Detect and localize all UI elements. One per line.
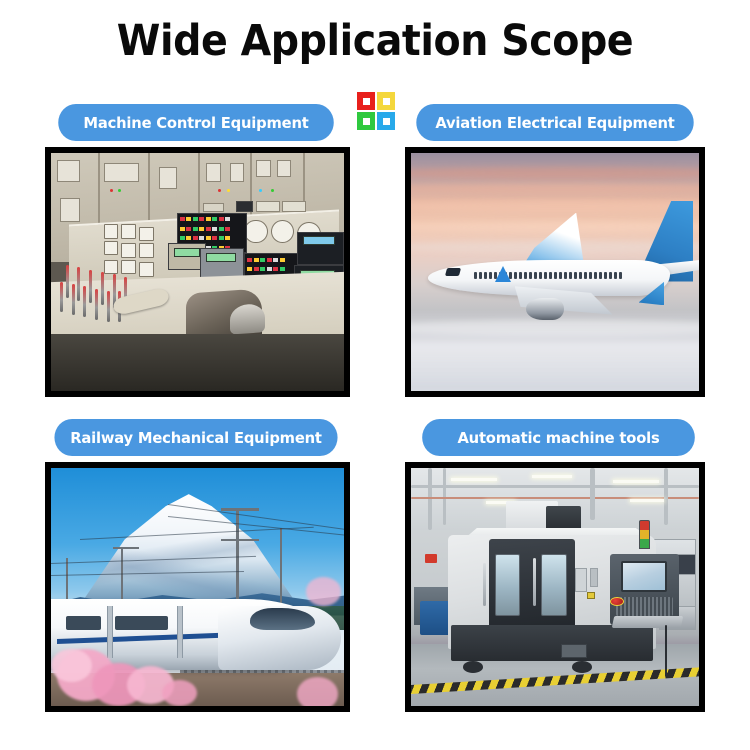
cnc-machine-base bbox=[451, 625, 653, 661]
card-label-railway-mechanical[interactable]: Railway Mechanical Equipment bbox=[54, 419, 337, 456]
photo-machine-control-room bbox=[51, 153, 344, 391]
card-machine-control[interactable]: Machine Control Equipment bbox=[45, 104, 350, 397]
cnc-control-keypad[interactable] bbox=[616, 597, 674, 616]
emergency-stop-button[interactable] bbox=[610, 597, 624, 607]
cnc-control-screen[interactable] bbox=[621, 561, 667, 592]
exit-sign bbox=[425, 554, 437, 564]
aircraft-engine-nacelle bbox=[526, 298, 563, 319]
aircraft-cockpit-window bbox=[444, 268, 461, 276]
photo-airliner-sunset bbox=[411, 153, 699, 391]
cnc-keyboard[interactable] bbox=[611, 616, 683, 628]
bullet-train-cockpit bbox=[250, 608, 314, 629]
photo-bullet-train-fuji bbox=[51, 468, 344, 706]
photo-frame-railway-mechanical bbox=[45, 462, 350, 712]
photo-cnc-machining-centre bbox=[411, 468, 699, 706]
aircraft-tail-logo bbox=[495, 266, 511, 282]
card-automatic-machine-tools[interactable]: Automatic machine tools bbox=[405, 419, 710, 712]
card-railway-mechanical[interactable]: Railway Mechanical Equipment bbox=[45, 419, 350, 712]
application-scope-grid: Machine Control Equipment bbox=[0, 104, 750, 734]
card-label-machine-control[interactable]: Machine Control Equipment bbox=[58, 104, 334, 141]
photo-frame-aviation-electrical bbox=[405, 147, 705, 397]
photo-frame-machine-control bbox=[45, 147, 350, 397]
card-aviation-electrical[interactable]: Aviation Electrical Equipment bbox=[405, 104, 710, 397]
cnc-signal-tower-light bbox=[639, 520, 651, 549]
card-label-automatic-machine-tools[interactable]: Automatic machine tools bbox=[422, 419, 695, 456]
card-label-aviation-electrical[interactable]: Aviation Electrical Equipment bbox=[416, 104, 693, 141]
photo-frame-automatic-machine-tools bbox=[405, 462, 705, 712]
page-title: Wide Application Scope bbox=[30, 16, 720, 66]
page-root: Wide Application Scope Machine Control E… bbox=[0, 0, 750, 750]
